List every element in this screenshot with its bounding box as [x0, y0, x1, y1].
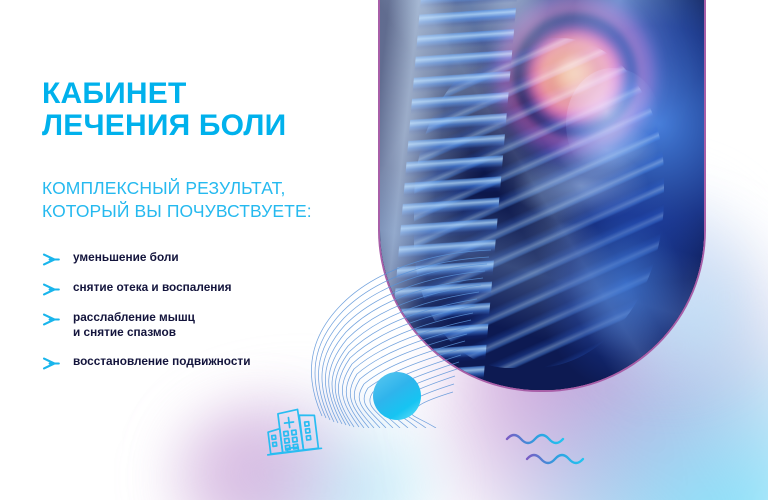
xray-highlight-band	[380, 0, 704, 390]
subtitle: КОМПЛЕКСНЫЙ РЕЗУЛЬТАТ, КОТОРЫЙ ВЫ ПОЧУВС…	[42, 177, 372, 223]
chevron-right-icon	[42, 356, 61, 371]
list-item: расслабление мышц и снятие спазмов	[42, 310, 372, 341]
headline-line-1: КАБИНЕТ	[42, 78, 372, 110]
subtitle-line-1: КОМПЛЕКСНЫЙ РЕЗУЛЬТАТ,	[42, 177, 372, 200]
xray-shoulder-illustration	[378, 0, 706, 392]
cyan-sphere-icon	[373, 372, 421, 420]
benefit-1-line-1: уменьшение боли	[73, 250, 179, 265]
benefit-text: восстановление подвижности	[73, 354, 250, 369]
subtitle-line-2: КОТОРЫЙ ВЫ ПОЧУВСТВУЕТЕ:	[42, 200, 372, 223]
benefit-3-line-1: расслабление мышц	[73, 310, 195, 325]
benefit-3-line-2: и снятие спазмов	[73, 325, 195, 340]
benefit-2-line-1: снятие отека и воспаления	[73, 280, 232, 295]
wave-lines-icon	[505, 428, 597, 470]
pain-halo-glow	[472, 0, 678, 178]
list-item: снятие отека и воспаления	[42, 280, 372, 297]
chevron-right-icon	[42, 252, 61, 267]
benefit-text: снятие отека и воспаления	[73, 280, 232, 295]
concentric-pain-rings-icon	[482, 0, 668, 168]
benefit-text: расслабление мышц и снятие спазмов	[73, 310, 195, 341]
xray-scapula-clavicle	[380, 0, 704, 390]
xray-ribcage	[414, 38, 664, 368]
decorative-blob-bottom-left	[150, 408, 360, 500]
hospital-building-icon	[261, 399, 327, 461]
xray-shoulder-joint	[566, 68, 662, 184]
xray-background	[380, 0, 704, 390]
page-title: КАБИНЕТ ЛЕЧЕНИЯ БОЛИ	[42, 78, 372, 143]
xray-spine-vertebrae	[387, 0, 522, 390]
pain-hotspot-core	[530, 34, 622, 120]
list-item: восстановление подвижности	[42, 354, 372, 371]
list-item: уменьшение боли	[42, 250, 372, 267]
benefit-text: уменьшение боли	[73, 250, 179, 265]
xray-upper-arm	[380, 0, 704, 390]
benefits-list: уменьшение боли снятие отека и воспалени…	[42, 250, 372, 371]
text-content-column: КАБИНЕТ ЛЕЧЕНИЯ БОЛИ КОМПЛЕКСНЫЙ РЕЗУЛЬТ…	[42, 78, 372, 371]
pain-treatment-banner: КАБИНЕТ ЛЕЧЕНИЯ БОЛИ КОМПЛЕКСНЫЙ РЕЗУЛЬТ…	[0, 0, 768, 500]
headline-line-2: ЛЕЧЕНИЯ БОЛИ	[42, 110, 372, 142]
xray-neck	[380, 0, 704, 390]
chevron-right-icon	[42, 282, 61, 297]
chevron-right-icon	[42, 312, 61, 327]
xray-shoulder-mass	[380, 0, 704, 390]
benefit-4-line-1: восстановление подвижности	[73, 354, 250, 369]
